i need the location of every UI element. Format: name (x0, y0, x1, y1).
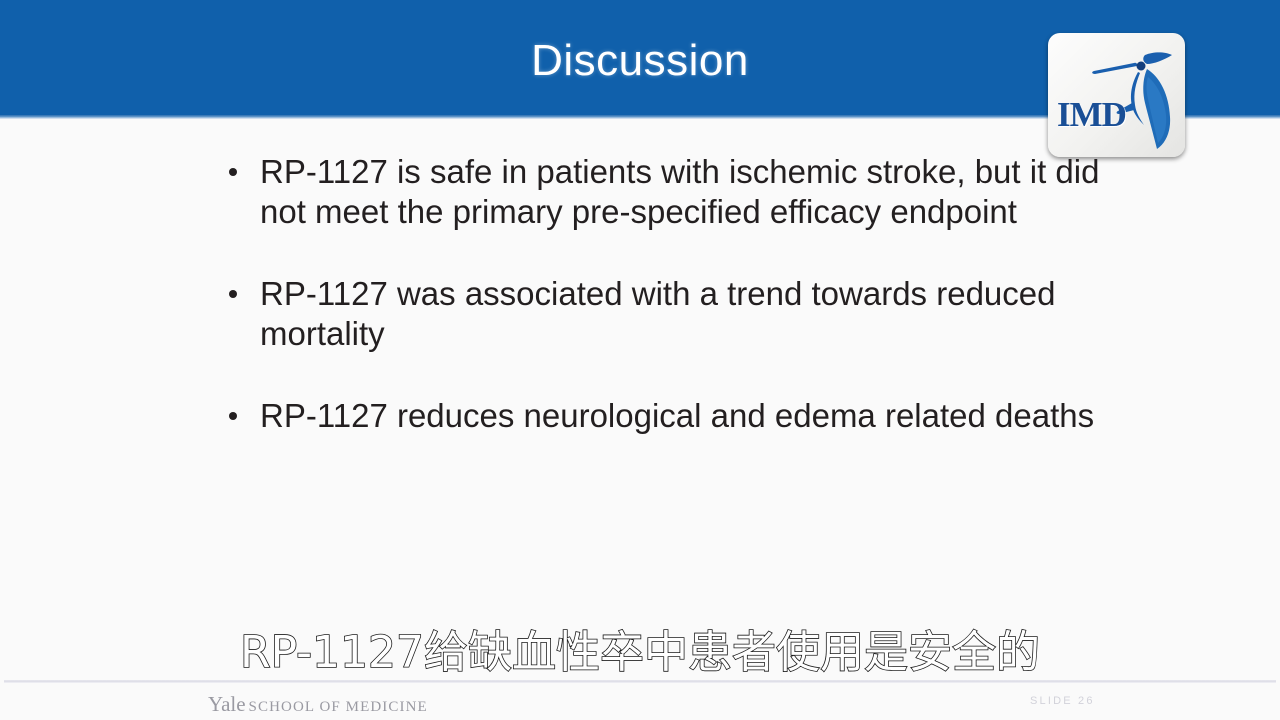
slide-number: SLIDE 26 (1030, 695, 1095, 707)
list-item-text: RP-1127 reduces neurological and edema r… (260, 397, 1094, 434)
footer-brand-primary: Yale (208, 692, 246, 716)
imd-logo: IMD (1048, 33, 1185, 157)
presentation-slide: Discussion IMD RP-1127 is safe in patien… (0, 0, 1280, 720)
list-item-text: RP-1127 was associated with a trend towa… (260, 275, 1055, 352)
list-item-text: RP-1127 is safe in patients with ischemi… (260, 153, 1099, 230)
footer-divider (4, 680, 1276, 683)
footer-brand: YaleSCHOOL OF MEDICINE (208, 692, 428, 717)
bullet-dot-icon (229, 168, 237, 176)
imd-logo-text: IMD (1057, 95, 1126, 135)
bullet-dot-icon (229, 290, 237, 298)
list-item: RP-1127 is safe in patients with ischemi… (216, 152, 1116, 232)
bullet-list: RP-1127 is safe in patients with ischemi… (216, 152, 1116, 478)
list-item: RP-1127 reduces neurological and edema r… (216, 396, 1116, 436)
list-item: RP-1127 was associated with a trend towa… (216, 274, 1116, 354)
bullet-dot-icon (229, 412, 237, 420)
footer-brand-secondary: SCHOOL OF MEDICINE (249, 699, 428, 715)
subtitle-overlay: RP-1127给缺血性卒中患者使用是安全的 (0, 627, 1280, 679)
